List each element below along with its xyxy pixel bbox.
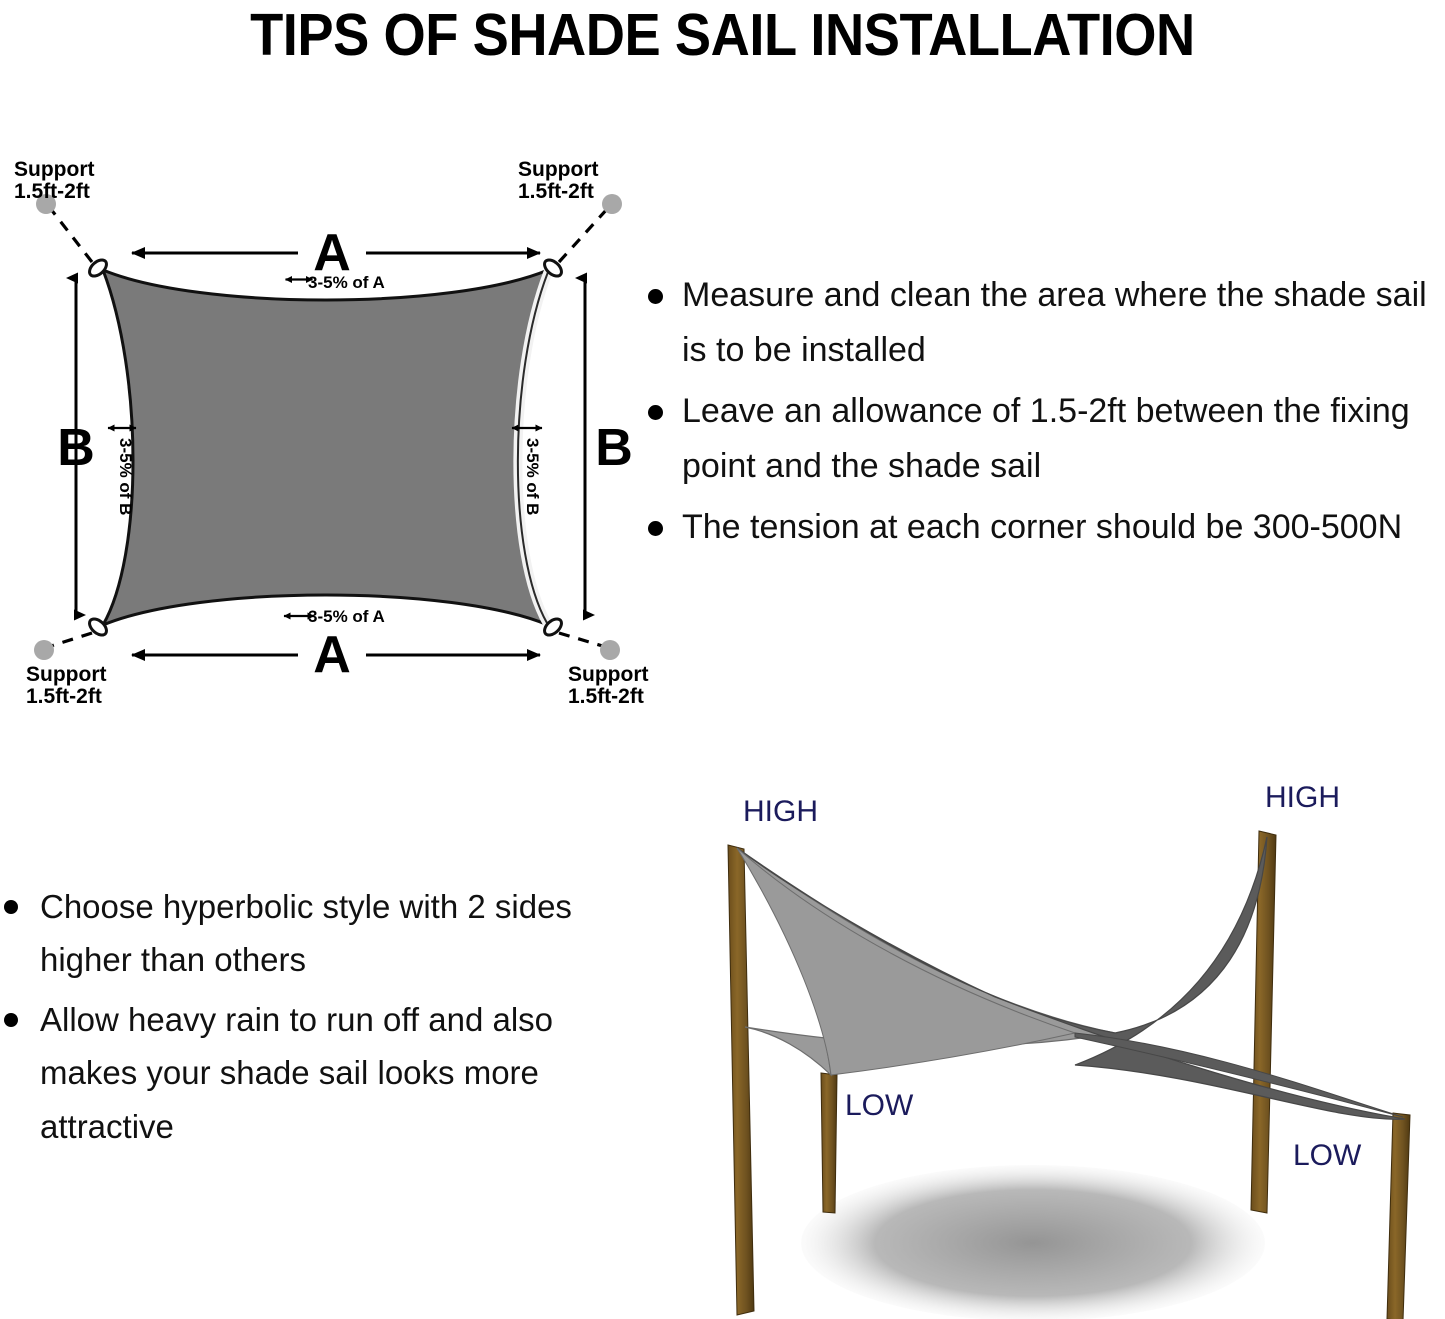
label-low-left: LOW: [845, 1089, 914, 1122]
support-label-bottom-right: Support 1.5ft-2ft: [568, 663, 648, 708]
sail-shape: [103, 270, 548, 625]
support-post-low-left: [821, 1073, 837, 1213]
sail-panel-dark-wing: [1075, 1033, 1403, 1117]
support-label-line1: Support: [14, 160, 94, 181]
list-item: Choose hyperbolic style with 2 sides hig…: [0, 880, 625, 987]
support-label-line2: 1.5ft-2ft: [568, 685, 644, 708]
tips-list-top: Measure and clean the area where the sha…: [640, 268, 1445, 555]
list-item: Measure and clean the area where the sha…: [640, 268, 1445, 378]
label-low-right: LOW: [1293, 1139, 1362, 1172]
tip-text: Allow heavy rain to run off and also mak…: [40, 1001, 553, 1145]
curve-depth-left-label: 3-5% of B: [116, 438, 135, 515]
curve-depth-top: 3-5% of A: [286, 273, 385, 292]
dimension-label-right-B: B: [595, 419, 633, 477]
curve-depth-left: 3-5% of B: [108, 428, 136, 515]
list-item: Allow heavy rain to run off and also mak…: [0, 993, 625, 1153]
tips-list-bottom: Choose hyperbolic style with 2 sides hig…: [0, 880, 625, 1153]
bullet-icon: [4, 900, 18, 914]
curve-depth-bottom-label: 3-5% of A: [308, 607, 385, 626]
support-post-low-right: [1387, 1113, 1410, 1319]
bullet-icon: [4, 1013, 18, 1027]
tip-text: Measure and clean the area where the sha…: [682, 276, 1427, 369]
tip-text: Leave an allowance of 1.5-2ft between th…: [682, 392, 1410, 485]
tip-text: Choose hyperbolic style with 2 sides hig…: [40, 888, 572, 978]
curve-depth-right-label: 3-5% of B: [523, 438, 542, 515]
installation-tips-bottom: Choose hyperbolic style with 2 sides hig…: [0, 880, 625, 1220]
page-title: TIPS OF SHADE SAIL INSTALLATION: [250, 6, 1195, 65]
support-label-line1: Support: [26, 663, 106, 686]
installation-tips-top: Measure and clean the area where the sha…: [640, 268, 1445, 658]
dimension-label-left-B: B: [57, 419, 95, 477]
label-high-right: HIGH: [1265, 781, 1340, 814]
list-item: Leave an allowance of 1.5-2ft between th…: [640, 384, 1445, 494]
support-label-line1: Support: [568, 663, 648, 686]
support-label-line2: 1.5ft-2ft: [518, 180, 594, 203]
shade-sail-dimension-diagram: Support 1.5ft-2ft Support 1.5ft-2ft Supp…: [0, 160, 660, 740]
bullet-icon: [648, 289, 663, 304]
support-label-line1: Support: [518, 160, 598, 181]
ground-shadow: [801, 1165, 1265, 1319]
dimension-label-bottom-A: A: [313, 626, 351, 684]
support-label-line2: 1.5ft-2ft: [14, 180, 90, 203]
curve-depth-bottom: 3-5% of A: [284, 607, 385, 626]
support-post-high-left: [728, 845, 754, 1315]
bullet-icon: [648, 521, 663, 536]
label-high-left: HIGH: [743, 795, 818, 828]
support-label-line2: 1.5ft-2ft: [26, 685, 102, 708]
support-label-top-right: Support 1.5ft-2ft: [518, 160, 598, 203]
curve-depth-top-label: 3-5% of A: [308, 273, 385, 292]
support-label-bottom-left: Support 1.5ft-2ft: [26, 663, 106, 708]
support-label-top-left: Support 1.5ft-2ft: [14, 160, 94, 203]
tip-text: The tension at each corner should be 300…: [682, 508, 1402, 546]
title-bar: TIPS OF SHADE SAIL INSTALLATION: [0, 0, 1445, 70]
bullet-icon: [648, 405, 663, 420]
list-item: The tension at each corner should be 300…: [640, 500, 1445, 555]
hyperbolic-shade-sail-illustration: HIGH HIGH LOW LOW: [645, 775, 1445, 1319]
